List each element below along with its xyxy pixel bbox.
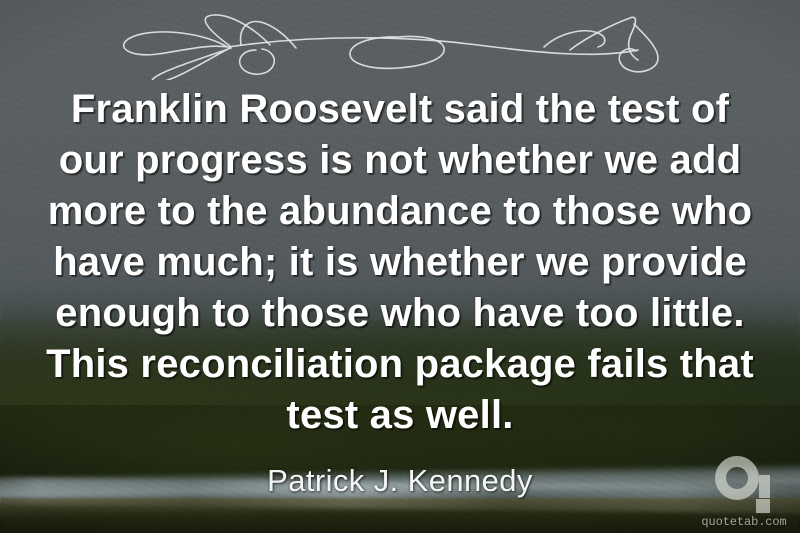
flourish-ornament-icon	[78, 14, 718, 80]
quote-line: have much; it is whether we provide	[42, 237, 758, 288]
watermark[interactable]: quotetab.com	[696, 456, 792, 529]
quote-line: more to the abundance to those who	[42, 186, 758, 237]
watermark-label: quotetab.com	[696, 515, 792, 529]
quote-text: Franklin Roosevelt said the test of our …	[42, 84, 758, 441]
quote-line: our progress is not whether we add	[42, 135, 758, 186]
quote-line: Franklin Roosevelt said the test of	[42, 84, 758, 135]
quote-line: enough to those who have too little.	[42, 288, 758, 339]
quote-line: This reconciliation package fails that	[42, 339, 758, 390]
quote-author: Patrick J. Kennedy	[0, 463, 800, 499]
logo-ring	[715, 456, 759, 500]
quote-image-card: Franklin Roosevelt said the test of our …	[0, 0, 800, 533]
quote-line: test as well.	[42, 390, 758, 441]
logo-dot	[756, 499, 770, 513]
quotetab-logo-icon[interactable]	[715, 456, 773, 514]
logo-stem	[759, 475, 770, 498]
